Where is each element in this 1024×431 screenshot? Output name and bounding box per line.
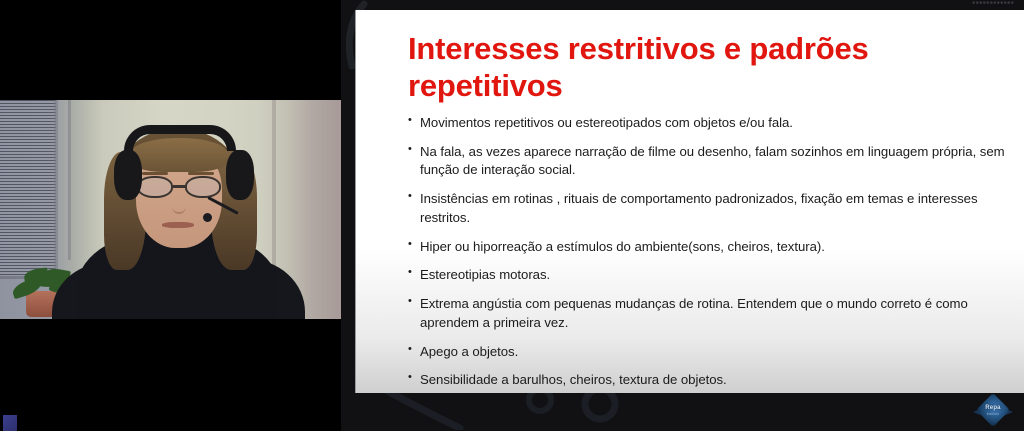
- brand-badge-watermark: Repa instituto: [974, 395, 1012, 428]
- badge-text: Repa: [974, 405, 1012, 411]
- slide-bullet-item: Sensibilidade a barulhos, cheiros, textu…: [408, 371, 1020, 390]
- presenter-figure: [0, 100, 341, 319]
- slide-title: Interesses restritivos e padrões repetit…: [408, 30, 998, 104]
- eyeglasses: [136, 176, 224, 198]
- participant-video-tile[interactable]: [0, 0, 341, 431]
- slide-bullet-item: Apego a objetos.: [408, 343, 1020, 362]
- headset-earcup-left: [114, 150, 142, 200]
- slide-bullet-item: Estereotipias motoras.: [408, 266, 1020, 285]
- cropped-header-text: ••••••••••••: [972, 0, 1014, 10]
- shared-slide[interactable]: Interesses restritivos e padrões repetit…: [355, 10, 1024, 393]
- mouth: [162, 222, 194, 228]
- glasses-lens-left: [137, 176, 173, 198]
- headset-microphone: [203, 213, 212, 222]
- slide-bullet-list: Movimentos repetitivos ou estereotipados…: [408, 114, 1020, 393]
- badge-subtext: instituto: [974, 412, 1012, 416]
- video-frame: [0, 100, 341, 319]
- glasses-bridge: [173, 185, 185, 188]
- meeting-stage: ••••••••••••: [0, 0, 1024, 431]
- eyebrow-right: [188, 172, 214, 175]
- headset-earcup-right: [226, 150, 254, 200]
- slide-bullet-item: Movimentos repetitivos ou estereotipados…: [408, 114, 1020, 133]
- glasses-lens-right: [185, 176, 221, 198]
- slide-bullet-item: Na fala, as vezes aparece narração de fi…: [408, 143, 1020, 180]
- slide-bullet-item: Hiper ou hiporreação a estímulos do ambi…: [408, 238, 1020, 257]
- eyebrow-left: [142, 172, 168, 175]
- headset-headband: [124, 125, 236, 151]
- slide-bullet-item: Insistências em rotinas , rituais de com…: [408, 190, 1020, 227]
- slide-bullet-item: Extrema angústia com pequenas mudanças d…: [408, 295, 1020, 332]
- corner-thumbnail-tile[interactable]: [3, 415, 17, 431]
- nose: [172, 198, 186, 214]
